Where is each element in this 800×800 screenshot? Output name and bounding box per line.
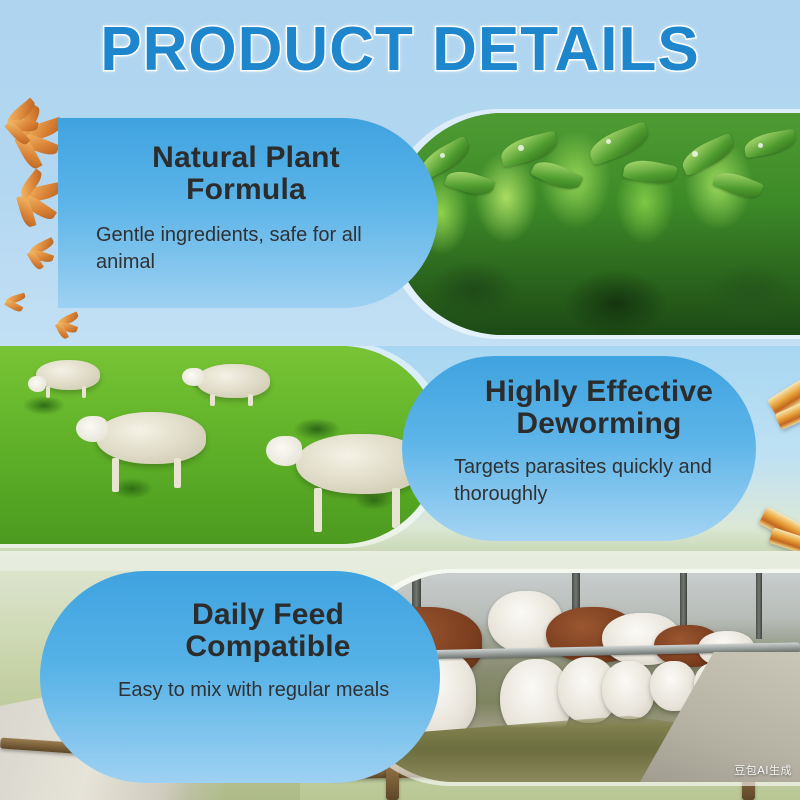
feature-2-text: Highly Effective Deworming Targets paras… xyxy=(454,376,744,507)
ai-watermark: 豆包AI生成 xyxy=(734,762,792,778)
feature-1-heading: Natural Plant Formula xyxy=(96,142,396,206)
feature-2-image xyxy=(0,346,440,544)
seedlings-illustration xyxy=(392,113,800,335)
feature-3-card[interactable]: Daily Feed Compatible Easy to mix with r… xyxy=(40,571,440,783)
sheep-head-shape xyxy=(182,368,204,386)
feature-3-text: Daily Feed Compatible Easy to mix with r… xyxy=(118,599,418,704)
feature-1-body: Gentle ingredients, safe for all animal xyxy=(96,222,396,275)
feature-1-text: Natural Plant Formula Gentle ingredients… xyxy=(96,142,396,275)
feature-2-card[interactable]: Highly Effective Deworming Targets paras… xyxy=(402,356,756,541)
sheep-pasture-illustration xyxy=(0,346,440,544)
page-title: PRODUCT DETAILS xyxy=(0,14,800,85)
feature-3-heading: Daily Feed Compatible xyxy=(118,599,418,663)
sheep-head-shape xyxy=(28,376,46,392)
feature-2-heading: Highly Effective Deworming xyxy=(454,376,744,440)
feature-3-body: Easy to mix with regular meals xyxy=(118,677,418,703)
poster-header: PRODUCT DETAILS xyxy=(0,0,800,112)
feature-band-1: PRODUCT DETAILS xyxy=(0,0,800,346)
sheep-head-shape xyxy=(76,416,108,442)
product-details-poster: PRODUCT DETAILS xyxy=(0,0,800,800)
sheep-shape xyxy=(196,364,270,398)
sheep-shape xyxy=(96,412,206,464)
sheep-head-shape xyxy=(266,436,302,466)
cow-head-shape xyxy=(602,661,654,719)
feature-2-body: Targets parasites quickly and thoroughly xyxy=(454,454,744,507)
feature-1-image xyxy=(392,113,800,335)
feature-1-card[interactable]: Natural Plant Formula Gentle ingredients… xyxy=(58,118,438,308)
